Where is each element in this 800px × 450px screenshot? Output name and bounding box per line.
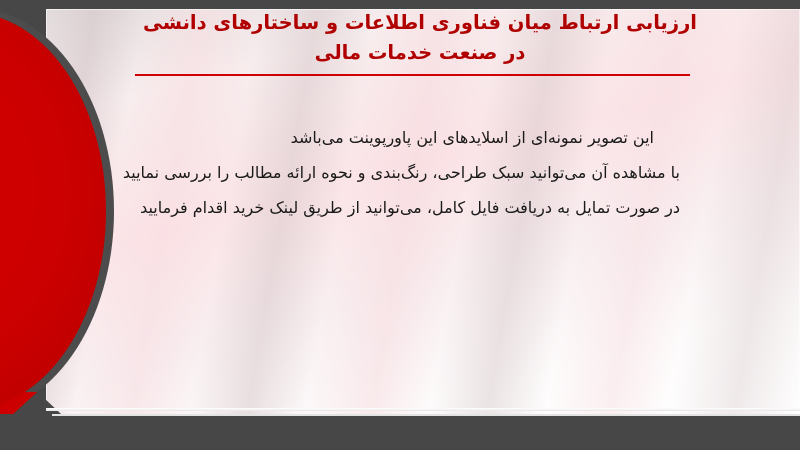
slide-title: ارزیابی ارتباط میان فناوری اطلاعات و ساخ… (120, 8, 720, 68)
body-line-1: این تصویر نمونه‌ای از اسلایدهای این پاور… (120, 120, 680, 155)
bottom-bar-highlight (52, 414, 800, 416)
body-line-3: در صورت تمایل به دریافت فایل کامل، می‌تو… (120, 190, 680, 225)
presentation-slide: ارزیابی ارتباط میان فناوری اطلاعات و ساخ… (0, 0, 800, 450)
body-line-2: با مشاهده آن می‌توانید سبک طراحی، رنگ‌بن… (120, 155, 680, 190)
slide-body-text: این تصویر نمونه‌ای از اسلایدهای این پاور… (120, 120, 680, 225)
bottom-dark-bar (0, 414, 800, 450)
slide-title-line-1: ارزیابی ارتباط میان فناوری اطلاعات و ساخ… (120, 8, 720, 38)
title-underline-rule (135, 74, 690, 76)
panel-bottom-edge (46, 408, 800, 411)
slide-title-line-2: در صنعت خدمات مالی (120, 38, 720, 68)
